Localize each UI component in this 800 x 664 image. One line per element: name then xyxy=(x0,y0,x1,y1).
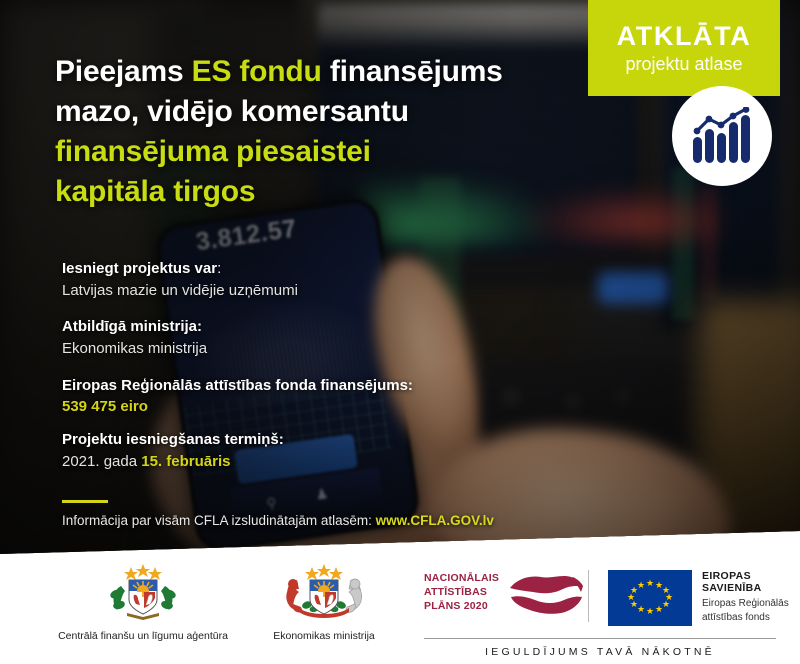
logo-cfla-caption: Centrālā finanšu un līgumu aģentūra xyxy=(48,630,238,642)
eu-flag-icon: ★ ★ ★ ★ ★ ★ ★ ★ ★ ★ ★ ★ xyxy=(608,570,692,626)
tagline: IEGULDĪJUMS TAVĀ NĀKOTNĒ xyxy=(424,646,776,658)
eu-subtitle-line-1: Eiropas Reģionālās xyxy=(702,597,800,611)
headline-line-4: kapitāla tirgos xyxy=(55,172,575,212)
footer: Centrālā finanšu un līgumu aģentūra xyxy=(0,556,800,664)
logo-em-caption: Ekonomikas ministrija xyxy=(248,630,400,642)
tagline-rule xyxy=(424,638,776,639)
headline-accent-es-fondu: ES fondu xyxy=(192,55,322,88)
detail-applicants-label-colon: : xyxy=(217,260,221,277)
detail-ministry-value: Ekonomikas ministrija xyxy=(62,338,532,361)
detail-ministry-label: Atbildīgā ministrija: xyxy=(62,316,532,338)
headline-line-3: finansējuma piesaistei xyxy=(55,132,575,172)
latvia-map-icon xyxy=(507,568,585,618)
badge-title: ATKLĀTA xyxy=(617,23,752,50)
eu-subtitle: Eiropas Reģionālās attīstības fonds xyxy=(702,597,800,625)
detail-ministry: Atbildīgā ministrija: Ekonomikas ministr… xyxy=(62,316,532,360)
nap-text-block: NACIONĀLAIS ATTĪSTĪBAS PLĀNS 2020 xyxy=(424,572,499,614)
detail-funding: Eiropas Reģionālās attīstības fonda fina… xyxy=(62,375,532,419)
detail-funding-label: Eiropas Reģionālās attīstības fonda fina… xyxy=(62,375,532,397)
detail-deadline-value: 2021. gada 15. februāris xyxy=(62,451,532,474)
nap-line-2: ATTĪSTĪBAS xyxy=(424,586,499,600)
poster: 3.812.57 ⚲ ♟ ATKLĀTA projektu atlase xyxy=(0,0,800,664)
yellow-divider xyxy=(62,500,108,503)
badge-icon-circle xyxy=(672,86,772,186)
detail-deadline-label: Projektu iesniegšanas termiņš: xyxy=(62,429,532,451)
eu-text-block: EIROPAS SAVIENĪBA Eiropas Reģionālās att… xyxy=(702,570,800,625)
cfla-website-link[interactable]: www.CFLA.GOV.lv xyxy=(376,513,494,528)
nap-2020-logo: NACIONĀLAIS ATTĪSTĪBAS PLĀNS 2020 xyxy=(424,568,585,618)
headline-line-2: mazo, vidējo komersantu xyxy=(55,92,575,132)
info-line-text: Informācija par visām CFLA izsludinātajā… xyxy=(62,513,376,528)
info-line: Informācija par visām CFLA izsludinātajā… xyxy=(62,513,494,528)
open-call-badge: ATKLĀTA projektu atlase xyxy=(588,0,780,96)
details-list: Iesniegt projektus var: Latvijas mazie u… xyxy=(62,258,532,487)
eu-logo: ★ ★ ★ ★ ★ ★ ★ ★ ★ ★ ★ ★ EIROPAS SAVIENĪB… xyxy=(608,570,800,626)
headline-line-1: Pieejams ES fondu finansējums xyxy=(55,52,575,92)
detail-applicants-label: Iesniegt projektus var: xyxy=(62,258,532,280)
detail-applicants-label-text: Iesniegt projektus var xyxy=(62,260,217,277)
headline: Pieejams ES fondu finansējums mazo, vidē… xyxy=(55,52,575,212)
eu-title: EIROPAS SAVIENĪBA xyxy=(702,570,800,594)
detail-deadline-date: 15. februāris xyxy=(141,453,230,470)
nap-line-1: NACIONĀLAIS xyxy=(424,572,499,586)
headline-part-a: Pieejams xyxy=(55,55,192,88)
detail-deadline: Projektu iesniegšanas termiņš: 2021. gad… xyxy=(62,429,532,473)
footer-vertical-rule xyxy=(588,570,589,622)
eu-subtitle-line-2: attīstības fonds xyxy=(702,611,800,625)
badge-subtitle: projektu atlase xyxy=(625,55,742,73)
latvia-coat-of-arms-icon xyxy=(107,564,179,620)
detail-applicants: Iesniegt projektus var: Latvijas mazie u… xyxy=(62,258,532,302)
detail-applicants-value: Latvijas mazie un vidējie uzņēmumi xyxy=(62,280,532,303)
logo-ekonomikas-ministrija: Ekonomikas ministrija xyxy=(248,564,400,642)
bar-chart-growth-icon xyxy=(691,107,753,165)
detail-funding-value: 539 475 eiro xyxy=(62,396,532,419)
detail-deadline-year: 2021. gada xyxy=(62,453,141,470)
latvia-greater-coat-of-arms-icon xyxy=(281,564,367,620)
headline-part-c: finansējums xyxy=(322,55,503,88)
logo-cfla: Centrālā finanšu un līgumu aģentūra xyxy=(48,564,238,642)
nap-line-3: PLĀNS 2020 xyxy=(424,600,499,614)
